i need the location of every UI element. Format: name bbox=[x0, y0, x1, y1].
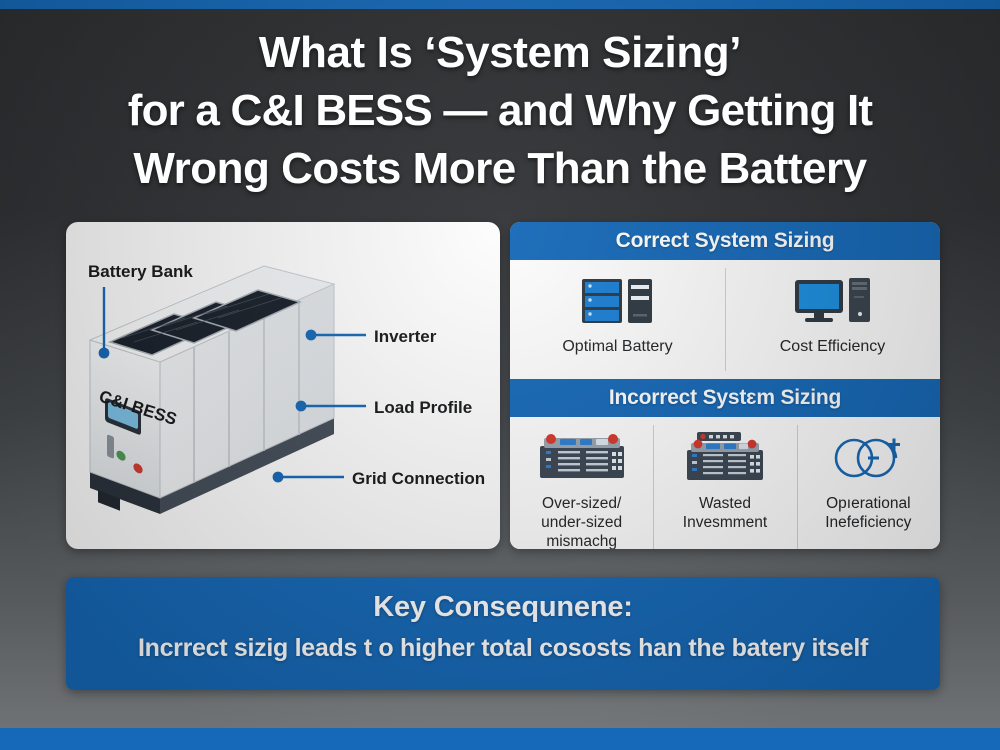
battery-terminals-icon bbox=[826, 431, 910, 485]
bess-diagram: C&I BESS Battery Bank Inverter Load Prof… bbox=[66, 222, 500, 549]
callout-label-inverter: Inverter bbox=[374, 327, 437, 346]
item-wasted-investment[interactable]: WastedInvesmment bbox=[653, 417, 796, 549]
item-size-mismatch[interactable]: Over-sized/under-sizedmismachg bbox=[510, 417, 653, 549]
correct-sizing-body: Optimal Battery Cost bbox=[510, 260, 940, 379]
title-line-3: Wrong Costs More Than the Battery bbox=[0, 140, 1000, 198]
correct-sizing-header: Correct System Sizing bbox=[510, 222, 940, 260]
item-label: Over-sized/under-sizedmismachg bbox=[541, 494, 622, 549]
banner-subtitle: Incrrect sizig leads t o higher total co… bbox=[66, 634, 940, 663]
key-consequence-banner: Key Consequnene: Incrrect sizig leads t … bbox=[66, 577, 940, 690]
item-label: WastedInvesmment bbox=[683, 494, 767, 532]
item-label: Optimal Battery bbox=[562, 337, 672, 356]
item-cost-efficiency[interactable]: Cost Efficiency bbox=[725, 260, 940, 379]
banner-title: Key Consequnene: bbox=[66, 591, 940, 624]
server-rack-icon bbox=[580, 274, 656, 328]
incorrect-sizing-body: Over-sized/under-sizedmismachg bbox=[510, 417, 940, 549]
title-line-1: What Is ‘System Sizing’ bbox=[0, 24, 1000, 82]
item-operational-inefficiency[interactable]: OpıerationalInefeficiency bbox=[797, 417, 940, 549]
item-label: Cost Efficiency bbox=[780, 337, 886, 356]
sizing-comparison-panels: Correct System Sizing bbox=[510, 222, 940, 549]
top-accent-strip bbox=[0, 0, 1000, 9]
page-title: What Is ‘System Sizing’ for a C&I BESS —… bbox=[0, 24, 1000, 198]
callout-label-battery-bank: Battery Bank bbox=[88, 262, 193, 281]
desktop-computer-icon bbox=[793, 274, 873, 328]
rack-server-icon bbox=[681, 431, 769, 485]
infographic-canvas: What Is ‘System Sizing’ for a C&I BESS —… bbox=[0, 0, 1000, 750]
bess-illustration-card: C&I BESS Battery Bank Inverter Load Prof… bbox=[66, 222, 500, 549]
callout-label-grid-connection: Grid Connection bbox=[352, 469, 485, 488]
callout-label-load-profile: Load Profile bbox=[374, 398, 472, 417]
incorrect-sizing-header: Incorrect Systɛm Sizing bbox=[510, 379, 940, 417]
rack-unit-icon bbox=[536, 431, 628, 485]
title-line-2: for a C&I BESS — and Why Getting It bbox=[0, 82, 1000, 140]
item-optimal-battery[interactable]: Optimal Battery bbox=[510, 260, 725, 379]
item-label: OpıerationalInefeficiency bbox=[825, 494, 911, 532]
bottom-accent-strip bbox=[0, 728, 1000, 750]
